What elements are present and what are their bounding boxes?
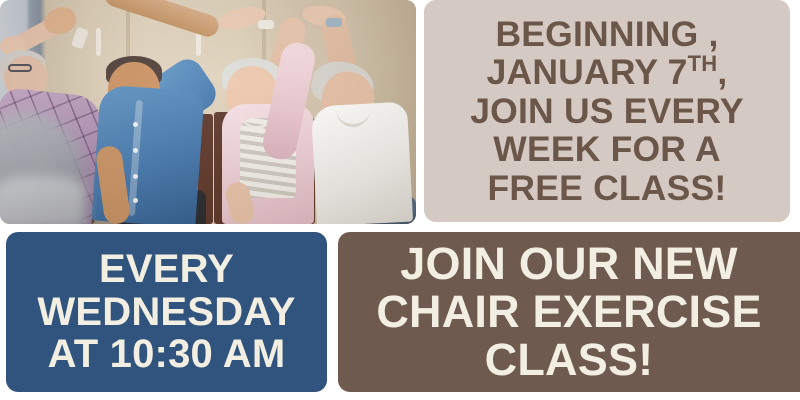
schedule-text: EVERY WEDNESDAY AT 10:30 AM xyxy=(37,248,295,376)
schedule-line-3: AT 10:30 AM xyxy=(48,332,286,376)
schedule-line-2: WEDNESDAY xyxy=(37,290,295,334)
beginning-line-4: WEEK FOR A xyxy=(493,129,720,169)
headline-line-1: JOIN OUR NEW xyxy=(400,238,737,289)
wristwatch xyxy=(326,18,342,27)
beginning-line-3: JOIN US EVERY xyxy=(470,91,744,131)
eyeglasses-icon xyxy=(8,64,32,72)
schedule-line-1: EVERY xyxy=(99,247,234,291)
shirt-button xyxy=(133,148,138,153)
beginning-line-1: BEGINNING , xyxy=(495,14,718,54)
headline-line-3: CLASS! xyxy=(485,334,654,385)
headline-line-2: CHAIR EXERCISE xyxy=(376,286,761,337)
beginning-date-text: BEGINNING , JANUARY 7TH, JOIN US EVERY W… xyxy=(470,15,744,208)
shirt-button xyxy=(133,122,138,127)
beginning-line-5: FREE CLASS! xyxy=(488,168,727,208)
shirt-button xyxy=(133,198,138,203)
wristwatch xyxy=(258,20,274,29)
schedule-panel: EVERY WEDNESDAY AT 10:30 AM xyxy=(6,232,327,392)
flyer-canvas: BEGINNING , JANUARY 7TH, JOIN US EVERY W… xyxy=(0,0,800,400)
shirt-button xyxy=(133,174,138,179)
beginning-date-panel: BEGINNING , JANUARY 7TH, JOIN US EVERY W… xyxy=(424,0,790,222)
wardrobe-handle xyxy=(96,28,101,56)
chair-exercise-photo xyxy=(0,0,416,224)
ordinal-superscript: TH xyxy=(688,51,718,76)
beginning-line-2-suffix: , xyxy=(717,52,727,92)
class-headline-panel: JOIN OUR NEW CHAIR EXERCISE CLASS! xyxy=(338,232,800,392)
beginning-line-2-prefix: JANUARY 7 xyxy=(487,52,688,92)
class-headline-text: JOIN OUR NEW CHAIR EXERCISE CLASS! xyxy=(376,240,761,383)
foreground-blurred-figure xyxy=(0,176,86,224)
photo-scene xyxy=(0,0,416,224)
